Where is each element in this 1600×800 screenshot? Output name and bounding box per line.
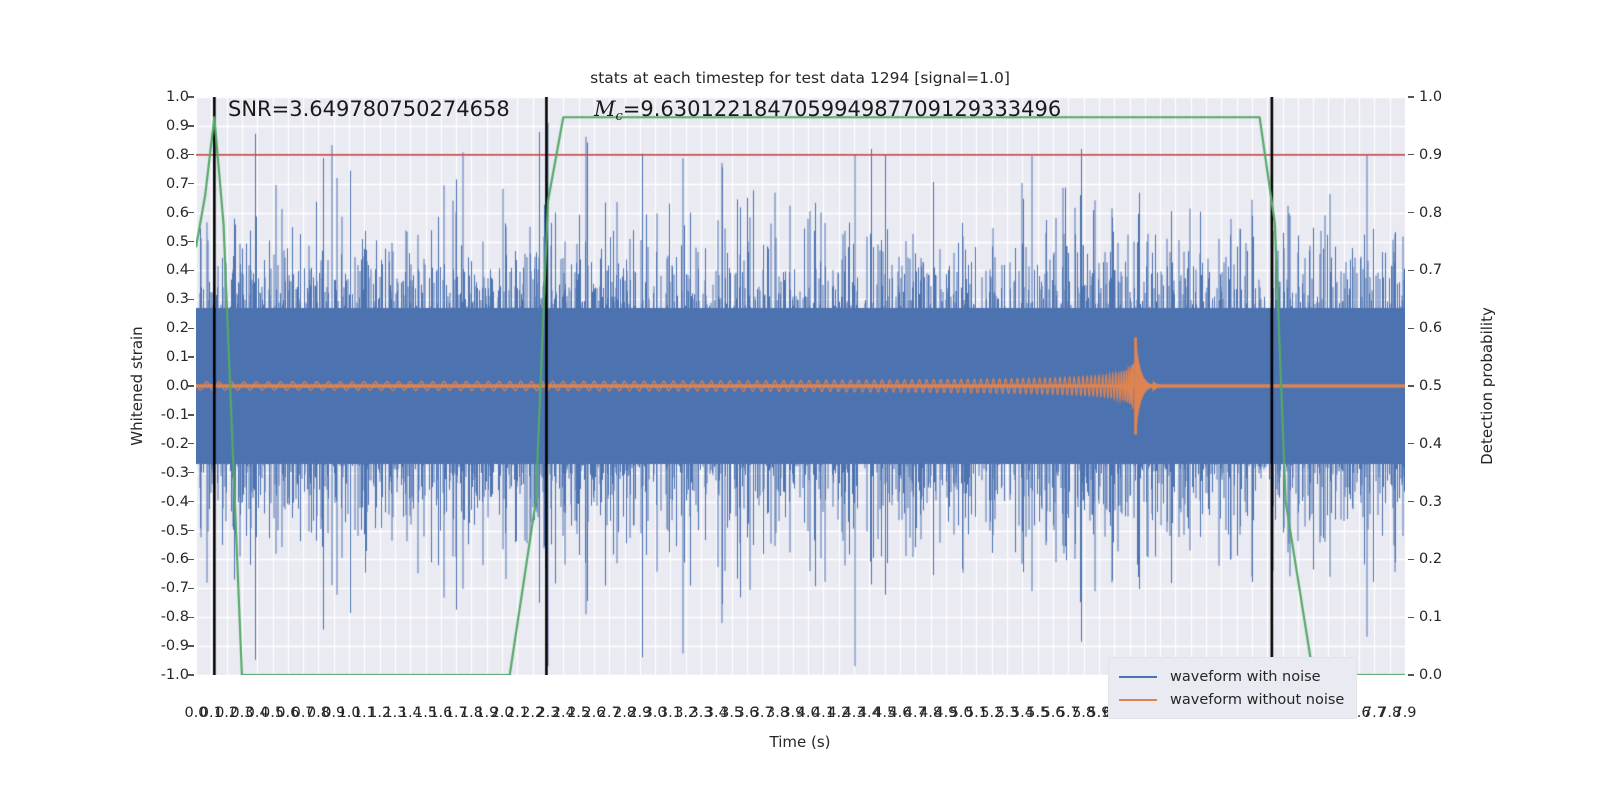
y-tick-mark	[188, 183, 194, 184]
y-tick-mark	[188, 645, 194, 646]
y-tick-label: 0.5	[166, 234, 189, 250]
y-tick-mark-right	[1408, 674, 1414, 675]
y-tick-mark	[188, 96, 194, 97]
y-tick-mark	[188, 501, 194, 502]
y-tick-label: -0.9	[161, 638, 189, 654]
y-tick-label-right: 0.9	[1419, 147, 1442, 163]
y-tick-label: -0.3	[161, 465, 189, 481]
y-tick-mark	[188, 559, 194, 560]
y-tick-label: -0.1	[161, 407, 189, 423]
chart-canvas	[196, 97, 1405, 675]
y-tick-mark	[188, 414, 194, 415]
y-tick-mark	[188, 530, 194, 531]
y-tick-label: -0.2	[161, 436, 189, 452]
legend: waveform with noisewaveform without nois…	[1108, 657, 1357, 719]
x-axis-title: Time (s)	[0, 733, 1600, 751]
y-tick-label: 0.2	[166, 320, 189, 336]
y-tick-label-right: 1.0	[1419, 89, 1442, 105]
y-tick-mark-right	[1408, 443, 1414, 444]
legend-label: waveform with noise	[1170, 669, 1321, 685]
y-tick-mark	[188, 472, 194, 473]
y-tick-mark	[188, 385, 194, 386]
y-tick-mark-right	[1408, 212, 1414, 213]
y-axis-left-title: Whitened strain	[128, 326, 146, 445]
y-tick-label: 0.8	[166, 147, 189, 163]
y-tick-label-right: 0.6	[1419, 320, 1442, 336]
y-tick-label: 0.0	[166, 378, 189, 394]
y-tick-mark	[188, 241, 194, 242]
y-tick-mark-right	[1408, 617, 1414, 618]
y-tick-label: 1.0	[166, 89, 189, 105]
y-tick-label-right: 0.5	[1419, 378, 1442, 394]
y-tick-label-right: 0.4	[1419, 436, 1442, 452]
y-tick-label: -0.4	[161, 494, 189, 510]
y-tick-label-right: 0.1	[1419, 609, 1442, 625]
y-tick-label: 0.6	[166, 205, 189, 221]
y-tick-mark	[188, 443, 194, 444]
y-tick-label: -0.5	[161, 523, 189, 539]
y-tick-label: -0.6	[161, 551, 189, 567]
y-tick-mark	[188, 328, 194, 329]
legend-item[interactable]: waveform with noise	[1119, 665, 1344, 688]
legend-label: waveform without noise	[1170, 692, 1344, 708]
plot-axes	[196, 97, 1405, 675]
y-tick-mark	[188, 270, 194, 271]
legend-swatch	[1119, 699, 1157, 701]
y-tick-label: 0.9	[166, 118, 189, 134]
plot-title: stats at each timestep for test data 129…	[0, 69, 1600, 87]
y-tick-label: -0.8	[161, 609, 189, 625]
y-tick-label: 0.7	[166, 176, 189, 192]
figure: stats at each timestep for test data 129…	[0, 0, 1600, 800]
y-tick-mark-right	[1408, 559, 1414, 560]
y-tick-mark-right	[1408, 154, 1414, 155]
y-tick-label: 0.3	[166, 291, 189, 307]
y-tick-mark	[188, 154, 194, 155]
y-tick-mark	[188, 617, 194, 618]
y-tick-mark	[188, 125, 194, 126]
snr-annotation: SNR=3.649780750274658	[228, 97, 510, 121]
y-tick-mark	[188, 674, 194, 675]
y-tick-mark-right	[1408, 328, 1414, 329]
legend-item[interactable]: waveform without noise	[1119, 688, 1344, 711]
y-tick-mark	[188, 588, 194, 589]
mc-subscript: c	[616, 109, 623, 124]
mc-symbol: M	[594, 97, 616, 121]
y-axis-right-title: Detection probability	[1478, 307, 1496, 465]
y-tick-mark-right	[1408, 385, 1414, 386]
y-tick-label-right: 0.8	[1419, 205, 1442, 221]
y-tick-mark	[188, 212, 194, 213]
y-tick-label: 0.4	[166, 262, 189, 278]
x-tick-label: 7.9	[1393, 705, 1416, 721]
y-tick-mark-right	[1408, 270, 1414, 271]
mc-value: =9.630122184705994987709129333496	[623, 97, 1061, 121]
y-tick-mark-right	[1408, 501, 1414, 502]
y-tick-label: 0.1	[166, 349, 189, 365]
y-tick-label: -1.0	[161, 667, 189, 683]
y-tick-label-right: 0.7	[1419, 262, 1442, 278]
y-tick-label-right: 0.3	[1419, 494, 1442, 510]
y-tick-mark	[188, 356, 194, 357]
y-tick-label-right: 0.2	[1419, 551, 1442, 567]
legend-swatch	[1119, 676, 1157, 678]
y-tick-mark	[188, 299, 194, 300]
y-tick-mark-right	[1408, 96, 1414, 97]
y-tick-label: -0.7	[161, 580, 189, 596]
chirp-mass-annotation: Mc=9.630122184705994987709129333496	[594, 97, 1061, 124]
y-tick-label-right: 0.0	[1419, 667, 1442, 683]
